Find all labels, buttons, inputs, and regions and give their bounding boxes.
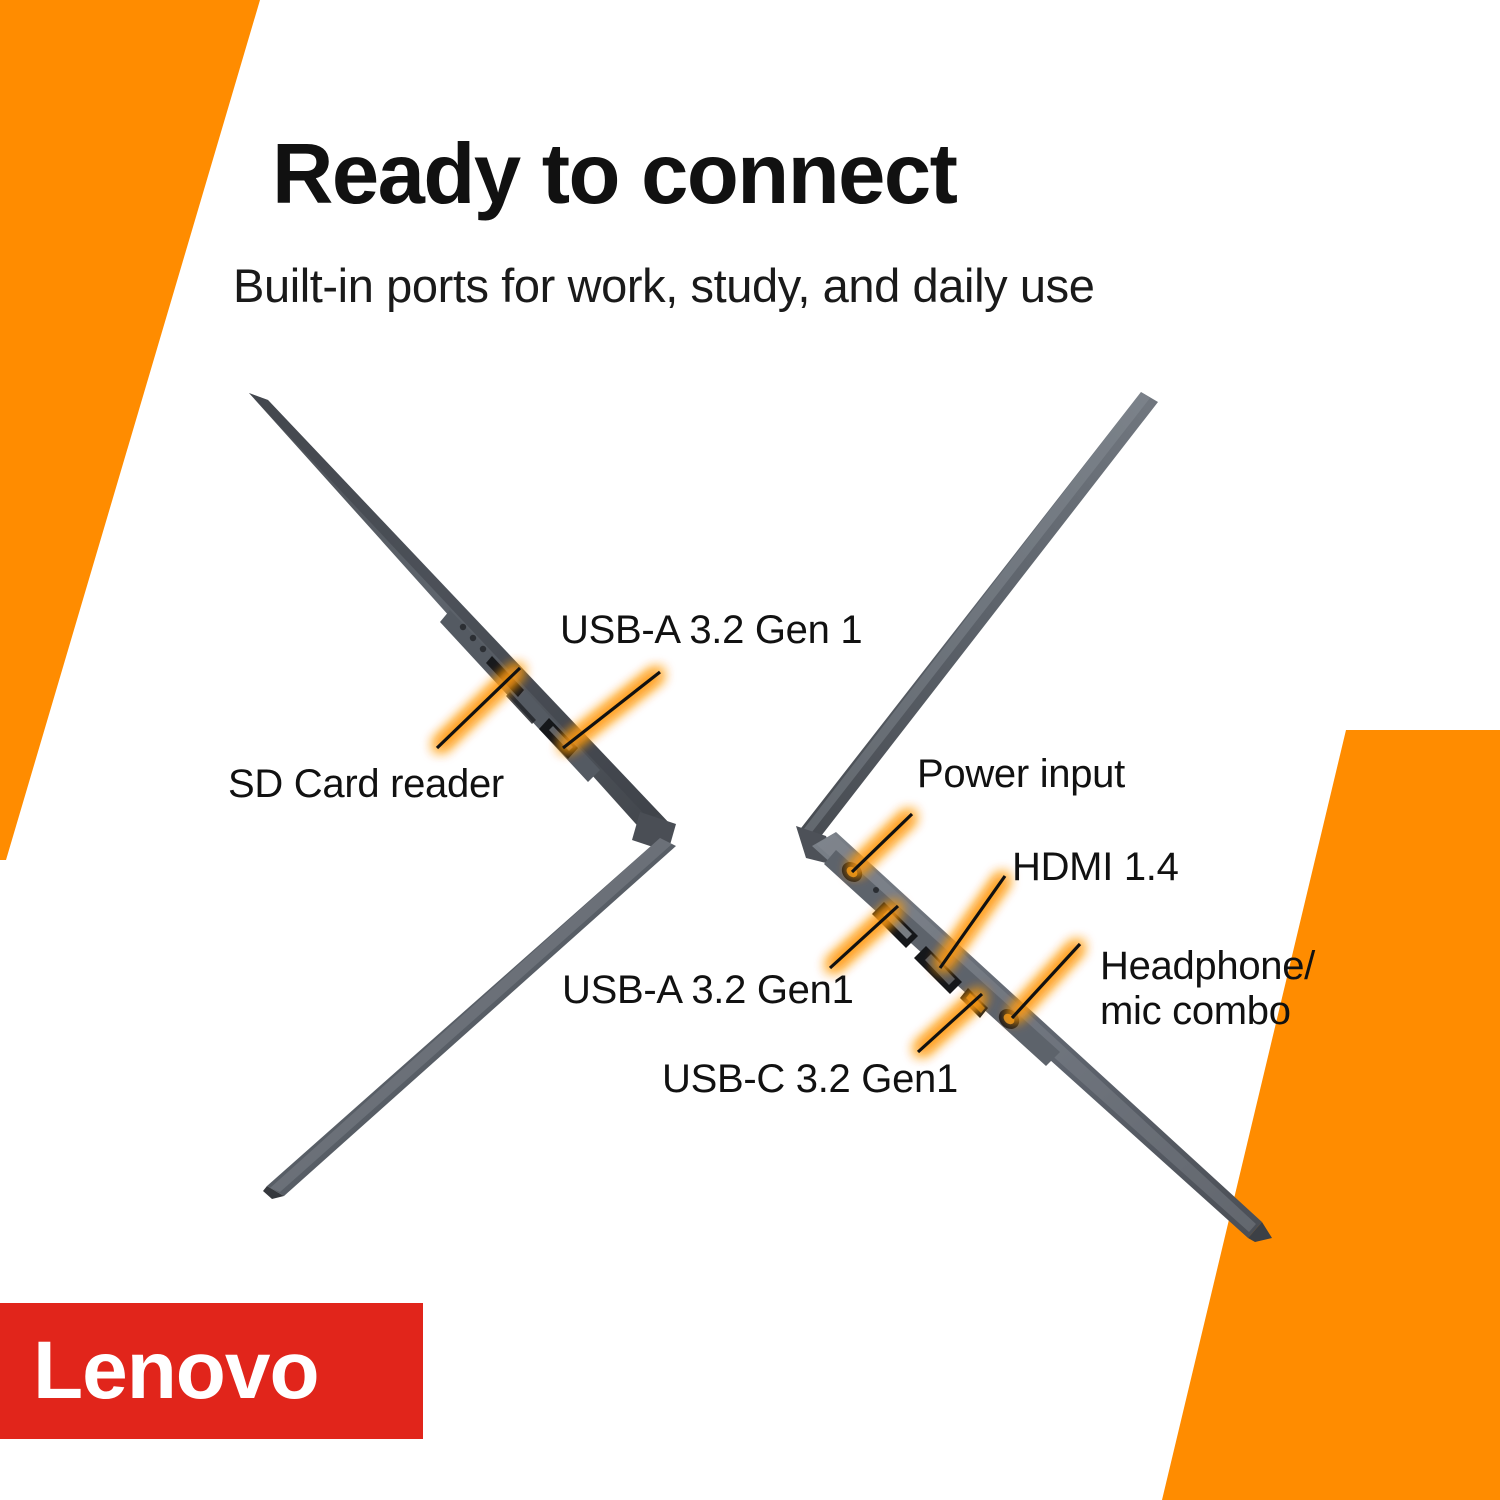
headphone-mic-port-inner — [1002, 1012, 1017, 1027]
right-indicator-dot — [873, 887, 879, 893]
headphone-mic-port — [995, 1005, 1023, 1033]
callout-label-usb-c: USB-C 3.2 Gen1 — [662, 1057, 958, 1102]
leader-line-headphone-mic — [1012, 944, 1080, 1018]
usb-c-port — [960, 988, 988, 1018]
usb-a-port-left-tongue — [549, 726, 573, 751]
callout-label-power-input: Power input — [917, 752, 1125, 797]
power-input-port — [838, 858, 866, 886]
leader-line-usb-a-left — [563, 672, 660, 748]
callout-label-headphone-mic: Headphone/ mic combo — [1100, 944, 1315, 1034]
laptop-right — [796, 392, 1272, 1242]
leader-line-usb-c — [918, 994, 982, 1052]
power-input-port-inner — [845, 865, 860, 880]
leader-line-sd-card — [437, 668, 520, 748]
left-indicator-dot-1 — [460, 624, 466, 630]
right-laptop-base — [812, 832, 1262, 1238]
right-laptop-base-tip — [1248, 1222, 1272, 1242]
leader-line-usb-a-right — [830, 906, 898, 968]
left-laptop-base-highlight — [270, 838, 672, 1192]
left-laptop-base-tip — [263, 1186, 284, 1199]
left-laptop-base — [267, 838, 676, 1196]
left-vent-slot — [506, 692, 536, 724]
hdmi-port — [914, 946, 962, 994]
lenovo-logo: Lenovo — [0, 1303, 423, 1439]
left-indicator-dot-3 — [480, 646, 486, 652]
usb-a-port-right — [872, 902, 918, 948]
right-laptop-hinge — [796, 826, 838, 866]
sd-card-slot — [486, 656, 524, 697]
left-laptop-hinge — [632, 812, 676, 852]
left-laptop-lid-edge — [249, 393, 660, 818]
page-title: Ready to connect — [272, 126, 956, 224]
infographic-canvas: Ready to connect Built-in ports for work… — [0, 0, 1500, 1500]
lenovo-wordmark: Lenovo — [33, 1323, 319, 1419]
callout-label-usb-a-left: USB-A 3.2 Gen 1 — [560, 608, 862, 653]
page-subtitle: Built-in ports for work, study, and dail… — [233, 258, 1094, 313]
left-indicator-dot-2 — [470, 635, 476, 641]
hdmi-port-inner — [925, 954, 955, 985]
orange-wedge-top-left — [0, 0, 300, 870]
orange-wedge-bottom-right — [1140, 700, 1500, 1500]
laptop-port-illustration — [0, 0, 1500, 1500]
usb-a-port-left — [539, 718, 578, 759]
usb-c-port-inner — [966, 993, 985, 1013]
leader-line-hdmi — [940, 876, 1005, 968]
callout-label-sd-card: SD Card reader — [228, 762, 504, 807]
callout-label-usb-a-right: USB-A 3.2 Gen1 — [562, 968, 854, 1013]
usb-a-port-right-tongue — [883, 910, 912, 939]
leader-line-power-input — [852, 814, 912, 872]
callout-label-hdmi: HDMI 1.4 — [1012, 845, 1179, 890]
